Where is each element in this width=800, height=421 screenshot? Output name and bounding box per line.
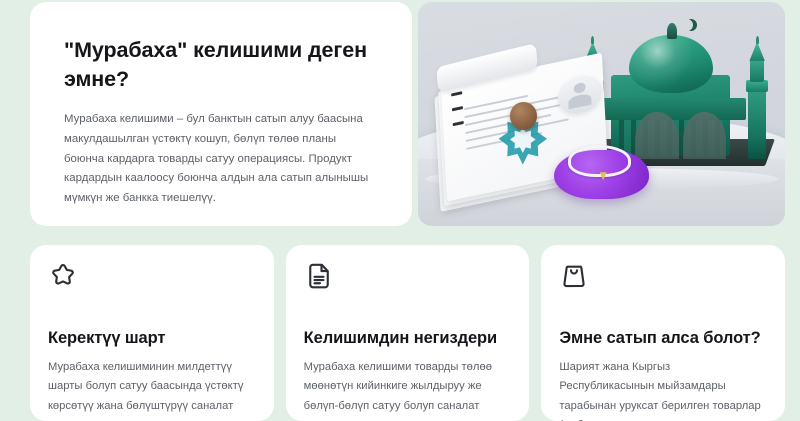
page-root: "Мурабаха" келишими деген эмне? Мурабаха… — [0, 0, 800, 421]
coin — [510, 102, 537, 130]
minaret-shaft — [748, 82, 767, 158]
mosque-dome — [629, 35, 712, 93]
info-card-body: Мурабаха келишими товарды төлөө мөөнөтүн… — [304, 358, 512, 416]
page-title: "Мурабаха" келишими деген эмне? — [64, 36, 378, 93]
info-card-agreement-basics[interactable]: Келишимдин негиздери Мурабаха келишими т… — [286, 245, 530, 421]
hero-description: Мурабаха келишими – бул банктын сатып ал… — [64, 110, 378, 209]
illustration-scene — [418, 2, 785, 226]
minaret-tip — [591, 36, 594, 44]
minaret-cap — [749, 42, 764, 61]
info-card-requirement[interactable]: Керектүү шарт Мурабаха келишиминин милде… — [30, 245, 274, 421]
shopping-bag-icon — [559, 261, 589, 291]
minaret-tip — [756, 36, 759, 44]
info-card-title: Эмне сатып алса болот? — [559, 329, 767, 348]
mosque-dome-finial — [667, 23, 677, 40]
hero-text-card: "Мурабаха" келишими деген эмне? Мурабаха… — [30, 2, 412, 226]
star-icon — [48, 261, 78, 291]
info-card-title: Керектүү шарт — [48, 329, 256, 348]
info-card-purchasable-goods[interactable]: Эмне сатып алса болот? Шарият жана Кыргы… — [541, 245, 785, 421]
info-card-title: Келишимдин негиздери — [304, 329, 512, 348]
info-card-body: Шарият жана Кыргыз Республикасынын мыйза… — [559, 358, 767, 421]
info-card-list: Керектүү шарт Мурабаха келишиминин милде… — [30, 245, 785, 421]
minaret-upper-shaft — [750, 58, 764, 82]
crescent-icon — [681, 19, 693, 31]
hero-section: "Мурабаха" келишими деген эмне? Мурабаха… — [30, 2, 785, 226]
info-card-body: Мурабаха келишиминин милдеттүү шарты бол… — [48, 358, 256, 416]
mosque-minaret-right — [744, 39, 770, 158]
prayer-beads — [568, 145, 630, 176]
document-icon — [304, 261, 334, 291]
mosque-cornice — [596, 98, 747, 120]
hero-illustration — [418, 2, 785, 226]
